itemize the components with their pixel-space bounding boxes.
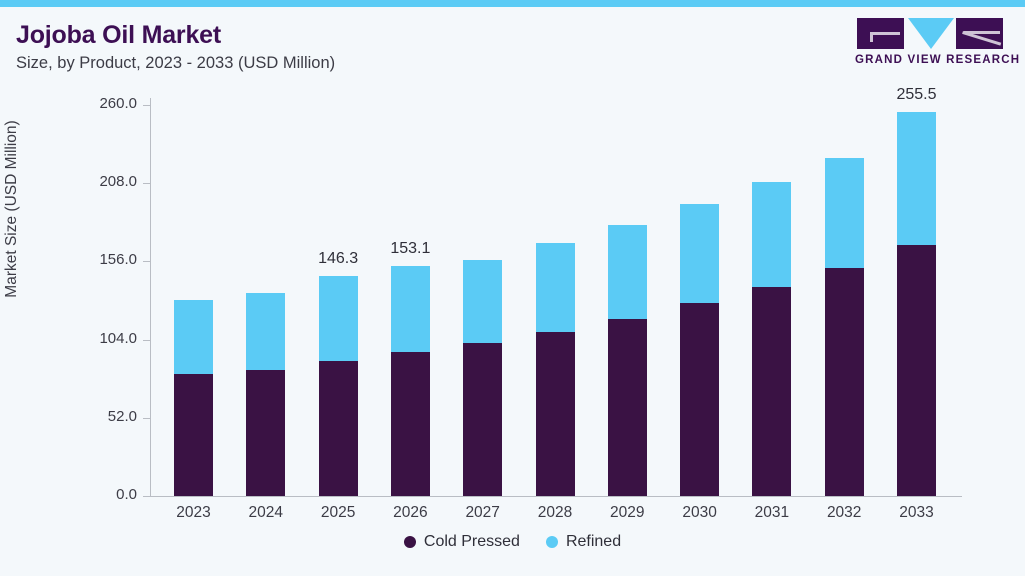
brand-logo: GRAND VIEW RESEARCH: [851, 18, 1009, 72]
x-axis-line: [150, 496, 962, 497]
bar-column[interactable]: [246, 293, 285, 496]
chart-frame: Jojoba Oil Market Size, by Product, 2023…: [0, 0, 1025, 576]
bar-column[interactable]: [680, 204, 719, 496]
legend-label-cold-pressed: Cold Pressed: [424, 533, 520, 551]
legend-label-refined: Refined: [566, 533, 621, 551]
bar-segment-cold-pressed[interactable]: [463, 343, 502, 496]
bar-segment-cold-pressed[interactable]: [246, 370, 285, 496]
bar-data-label: 255.5: [872, 86, 962, 104]
y-axis-line: [150, 98, 151, 496]
bar-segment-cold-pressed[interactable]: [391, 352, 430, 496]
bar-column[interactable]: [752, 182, 791, 496]
bar-column[interactable]: [536, 243, 575, 496]
bar-segment-refined[interactable]: [246, 293, 285, 370]
legend-swatch-cold-pressed: [404, 536, 416, 548]
bar-segment-cold-pressed[interactable]: [536, 332, 575, 496]
y-axis-tick-label: 0.0: [0, 486, 137, 503]
logo-marks: [851, 18, 1009, 49]
y-axis-tick: [143, 418, 150, 419]
bar-data-label: 153.1: [365, 240, 455, 258]
y-axis-tick: [143, 183, 150, 184]
top-accent-bar: [0, 0, 1025, 7]
y-axis-tick: [143, 105, 150, 106]
bar-segment-cold-pressed[interactable]: [174, 374, 213, 496]
bar-segment-cold-pressed[interactable]: [608, 319, 647, 496]
y-axis-tick-label: 208.0: [0, 173, 137, 190]
y-axis-tick: [143, 340, 150, 341]
bar-column[interactable]: [463, 260, 502, 496]
y-axis-tick-label: 156.0: [0, 251, 137, 268]
bar-segment-cold-pressed[interactable]: [752, 287, 791, 496]
bar-column[interactable]: [391, 266, 430, 496]
logo-letter-v-icon: [908, 18, 954, 49]
bar-segment-refined[interactable]: [680, 204, 719, 303]
y-axis-labels: 0.052.0104.0156.0208.0260.0: [0, 0, 137, 576]
bar-column[interactable]: [608, 225, 647, 496]
bar-segment-refined[interactable]: [319, 276, 358, 361]
y-axis-tick-label: 52.0: [0, 408, 137, 425]
bar-segment-refined[interactable]: [752, 182, 791, 287]
logo-letter-r-icon: [956, 18, 1003, 49]
bar-segment-refined[interactable]: [536, 243, 575, 331]
y-axis-tick-label: 104.0: [0, 330, 137, 347]
bar-segment-cold-pressed[interactable]: [319, 361, 358, 496]
bar-segment-refined[interactable]: [608, 225, 647, 319]
bar-column[interactable]: [897, 112, 936, 496]
chart-legend: Cold Pressed Refined: [0, 533, 1025, 551]
bar-column[interactable]: [319, 276, 358, 496]
bar-segment-refined[interactable]: [463, 260, 502, 343]
legend-swatch-refined: [546, 536, 558, 548]
bar-column[interactable]: [174, 300, 213, 496]
bar-segment-refined[interactable]: [391, 266, 430, 352]
logo-letter-g-icon: [857, 18, 904, 49]
x-axis-tick-label: 2033: [872, 504, 962, 522]
y-axis-tick-label: 260.0: [0, 95, 137, 112]
bar-column[interactable]: [825, 158, 864, 496]
bar-segment-refined[interactable]: [174, 300, 213, 374]
legend-item-cold-pressed[interactable]: Cold Pressed: [404, 533, 520, 551]
bar-segment-refined[interactable]: [897, 112, 936, 245]
bar-segment-cold-pressed[interactable]: [680, 303, 719, 496]
y-axis-tick: [143, 261, 150, 262]
bar-segment-cold-pressed[interactable]: [825, 268, 864, 496]
legend-item-refined[interactable]: Refined: [546, 533, 621, 551]
bar-segment-cold-pressed[interactable]: [897, 245, 936, 496]
logo-wordmark: GRAND VIEW RESEARCH: [855, 54, 1020, 66]
chart-canvas: [6, 7, 1019, 570]
bar-segment-refined[interactable]: [825, 158, 864, 268]
y-axis-tick: [143, 496, 150, 497]
